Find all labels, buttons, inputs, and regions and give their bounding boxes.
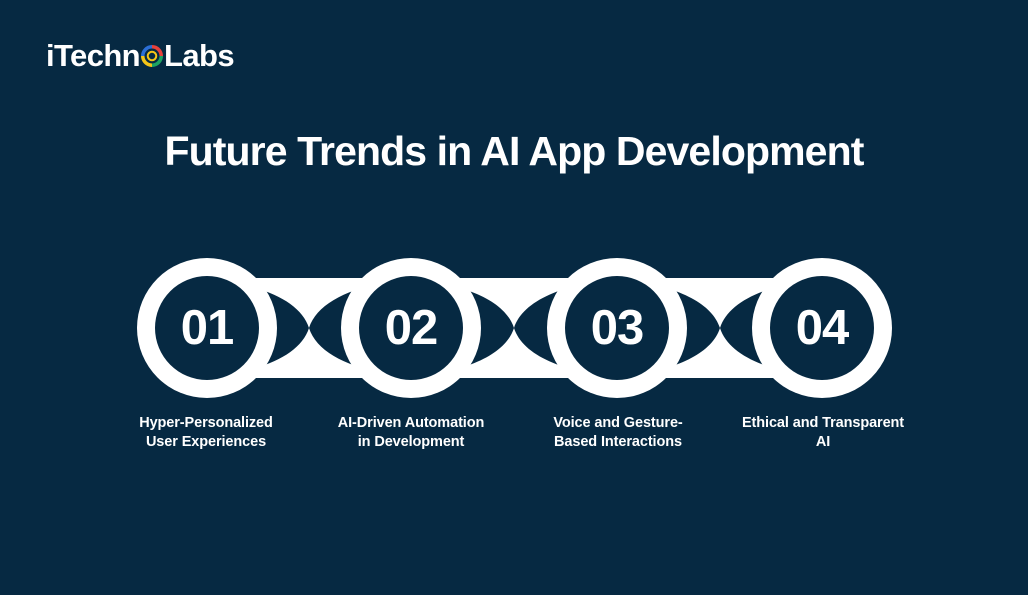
page-title: Future Trends in AI App Development: [0, 129, 1028, 175]
step-caption-3: Voice and Gesture- Based Interactions: [518, 414, 718, 452]
step-number-1: 01: [181, 301, 234, 355]
step-caption-2-line2: in Development: [311, 433, 511, 452]
multicolor-ring-icon: [141, 45, 163, 67]
brand-logo[interactable]: iTechn Labs: [46, 36, 234, 74]
step-caption-4: Ethical and Transparent AI: [723, 414, 923, 452]
chain-blob-group: [137, 258, 892, 398]
chain-svg: 01 02 03 04: [0, 240, 1028, 420]
step-number-4: 04: [796, 301, 849, 355]
step-caption-4-line2: AI: [723, 433, 923, 452]
step-number-3: 03: [591, 301, 644, 355]
step-caption-2: AI-Driven Automation in Development: [311, 414, 511, 452]
step-caption-1-line2: User Experiences: [106, 433, 306, 452]
brand-name-prefix: iTechn: [46, 40, 140, 71]
step-number-2: 02: [385, 301, 438, 355]
step-captions: Hyper-Personalized User Experiences AI-D…: [0, 414, 1028, 474]
process-chain-diagram: 01 02 03 04: [0, 240, 1028, 420]
step-caption-3-line2: Based Interactions: [518, 433, 718, 452]
brand-name-suffix: Labs: [164, 40, 234, 71]
step-caption-1-line1: Hyper-Personalized: [106, 414, 306, 433]
step-caption-4-line1: Ethical and Transparent: [723, 414, 923, 433]
step-caption-3-line1: Voice and Gesture-: [518, 414, 718, 433]
step-caption-1: Hyper-Personalized User Experiences: [106, 414, 306, 452]
step-caption-2-line1: AI-Driven Automation: [311, 414, 511, 433]
